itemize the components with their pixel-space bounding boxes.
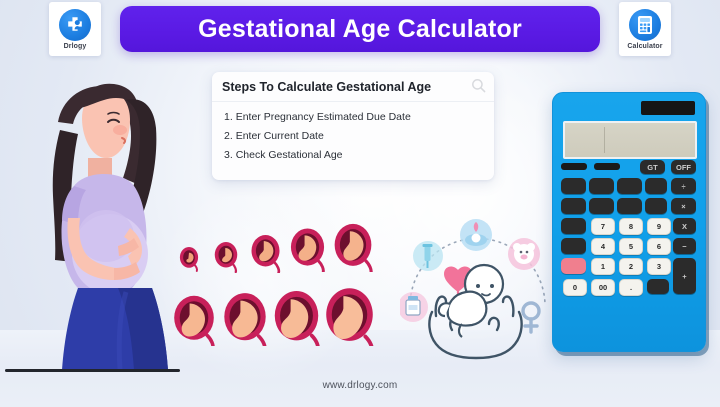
- key-9[interactable]: 9: [647, 218, 671, 235]
- step-number: 3.: [224, 147, 233, 164]
- key-function-c1[interactable]: [561, 218, 586, 234]
- ground-line: [5, 369, 180, 372]
- footer-url[interactable]: www.drlogy.com: [0, 380, 720, 391]
- key-minus[interactable]: −: [673, 238, 696, 254]
- key-3[interactable]: 3: [647, 258, 671, 275]
- fetus-stage-8: [273, 290, 320, 346]
- key-2[interactable]: 2: [619, 258, 643, 275]
- female-symbol-icon: [523, 303, 539, 332]
- fetus-stage-5: [332, 222, 374, 272]
- key-divide[interactable]: ÷: [671, 178, 696, 194]
- calculator-badge-label: Calculator: [627, 43, 662, 50]
- syringe-icon: [413, 241, 443, 271]
- key-1[interactable]: 1: [591, 258, 615, 275]
- step-text: Enter Current Date: [236, 130, 324, 142]
- key-7[interactable]: 7: [591, 218, 615, 235]
- key-function-b2[interactable]: [589, 198, 614, 214]
- key-8[interactable]: 8: [619, 218, 643, 235]
- fetus-stage-6: [172, 294, 216, 346]
- key-clear[interactable]: [561, 258, 586, 274]
- calculator-display: [563, 121, 697, 159]
- key-off[interactable]: OFF: [671, 160, 696, 174]
- key-0[interactable]: 0: [563, 279, 587, 296]
- pregnant-woman-illustration: [22, 78, 174, 373]
- medicine-bottle-icon: [400, 292, 428, 322]
- solar-panel: [641, 101, 695, 115]
- steps-list: 1. Enter Pregnancy Estimated Due Date 2.…: [212, 102, 494, 164]
- key-function-b3[interactable]: [617, 198, 642, 214]
- calculator-keypad: GT OFF ÷ × 7 8 9 X 4 5 6 −: [561, 163, 697, 339]
- calculator-icon: [629, 9, 661, 41]
- calculator-badge[interactable]: Calculator: [619, 2, 671, 56]
- key-x[interactable]: X: [673, 218, 696, 234]
- fetus-stage-3: [248, 232, 283, 273]
- steps-card: Steps To Calculate Gestational Age 1. En…: [212, 72, 494, 180]
- key-multiply[interactable]: ×: [671, 198, 696, 214]
- fetus-stage-9: [325, 288, 374, 346]
- steps-card-header: Steps To Calculate Gestational Age: [212, 72, 494, 102]
- brand-badge-drlogy[interactable]: Drlogy: [49, 2, 101, 56]
- poster-canvas: Gestational Age Calculator Drlogy: [0, 0, 720, 407]
- key-decimal[interactable]: .: [619, 279, 643, 296]
- key-00[interactable]: 00: [591, 279, 615, 296]
- step-text: Enter Pregnancy Estimated Due Date: [236, 111, 411, 123]
- list-item: 2. Enter Current Date: [224, 128, 494, 145]
- key-5[interactable]: 5: [619, 238, 643, 255]
- steps-card-title: Steps To Calculate Gestational Age: [222, 80, 431, 94]
- step-text: Check Gestational Age: [236, 149, 343, 161]
- key-function-d1[interactable]: [561, 238, 586, 254]
- brand-badge-label: Drlogy: [64, 43, 87, 50]
- key-function-a4[interactable]: [645, 178, 667, 194]
- list-item: 1. Enter Pregnancy Estimated Due Date: [224, 109, 494, 126]
- page-title-banner: Gestational Age Calculator: [120, 6, 600, 52]
- fetus-stage-7: [222, 292, 268, 346]
- key-6[interactable]: 6: [647, 238, 671, 255]
- key-plus[interactable]: +: [673, 258, 696, 294]
- key-memory-bar-1[interactable]: [561, 163, 587, 170]
- key-function-a1[interactable]: [561, 178, 586, 194]
- key-function-b4[interactable]: [645, 198, 667, 214]
- fetus-stage-4: [288, 226, 327, 272]
- key-function-a2[interactable]: [589, 178, 614, 194]
- pacifier-icon: [460, 219, 492, 251]
- step-number: 1.: [224, 109, 233, 126]
- fetus-stage-1: [176, 243, 202, 273]
- calculator-device: GT OFF ÷ × 7 8 9 X 4 5 6 −: [552, 92, 706, 352]
- key-function-b1[interactable]: [561, 198, 586, 214]
- teddy-bear-icon: [508, 238, 540, 270]
- page-title: Gestational Age Calculator: [198, 15, 522, 44]
- step-number: 2.: [224, 128, 233, 145]
- key-equals[interactable]: [647, 279, 669, 294]
- medical-cross-icon: [59, 9, 91, 41]
- key-function-a3[interactable]: [617, 178, 642, 194]
- baby-in-hands-illustration: [400, 212, 555, 367]
- key-memory-bar-2[interactable]: [594, 163, 620, 170]
- fetus-stage-2: [211, 238, 241, 273]
- key-4[interactable]: 4: [591, 238, 615, 255]
- list-item: 3. Check Gestational Age: [224, 147, 494, 164]
- key-gt[interactable]: GT: [640, 160, 665, 174]
- search-icon[interactable]: [471, 78, 486, 98]
